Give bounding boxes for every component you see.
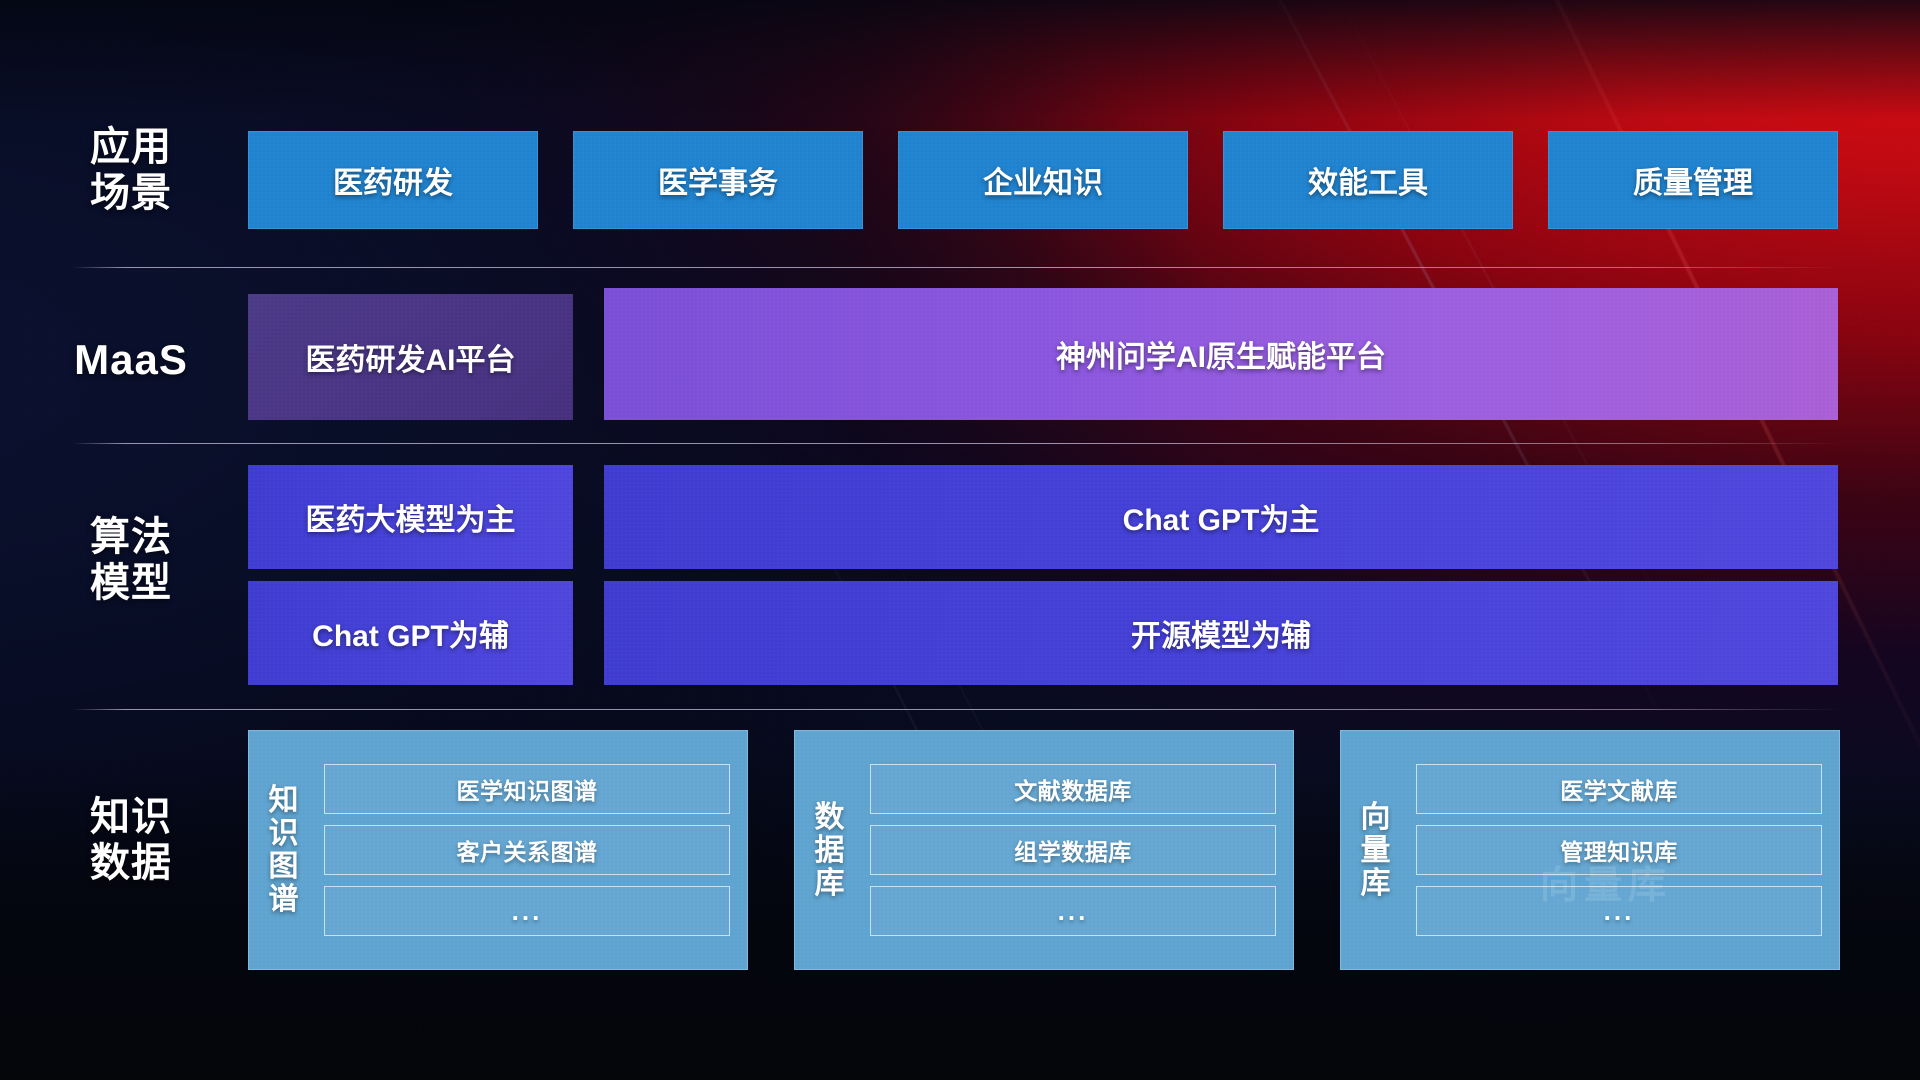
app-cell-label: 质量管理: [1633, 158, 1753, 202]
maas-right-label: 神州问学AI原生赋能平台: [1056, 332, 1386, 376]
knowledge-group-title-2: 数 据 库: [794, 801, 866, 900]
row-label-knowledge-data: 知识 数据: [48, 795, 214, 886]
app-cell-3[interactable]: 企业知识: [898, 131, 1188, 229]
title-char: 量: [1361, 834, 1392, 867]
row-label-line: 场景: [48, 171, 214, 217]
knowledge-group-title-3: 向 量 库: [1340, 801, 1412, 900]
knowledge-group-2[interactable]: 数 据 库 文献数据库 组学数据库 ...: [794, 730, 1294, 970]
knowledge-items-2: 文献数据库 组学数据库 ...: [866, 750, 1294, 950]
knowledge-group-title-1: 知 识 图 谱: [248, 784, 320, 916]
algo-cell-label: 医药大模型为主: [306, 495, 516, 539]
title-char: 识: [269, 817, 300, 850]
knowledge-item[interactable]: 文献数据库: [870, 764, 1276, 814]
diagram-content: 应用 场景 医药研发 医学事务 企业知识 效能工具 质量管理 MaaS 医药研发…: [0, 0, 1920, 1080]
divider-3: [72, 709, 1842, 710]
app-cell-label: 效能工具: [1308, 158, 1428, 202]
row-label-line: 知识: [48, 795, 214, 841]
algo-cell-right-2[interactable]: 开源模型为辅: [604, 581, 1838, 685]
algo-cell-right-1[interactable]: Chat GPT为主: [604, 465, 1838, 569]
algo-cell-left-1[interactable]: 医药大模型为主: [248, 465, 573, 569]
knowledge-item[interactable]: 组学数据库: [870, 825, 1276, 875]
knowledge-items-1: 医学知识图谱 客户关系图谱 ...: [320, 750, 748, 950]
row-label-algorithm-model: 算法 模型: [48, 515, 214, 606]
slide-canvas: 应用 场景 医药研发 医学事务 企业知识 效能工具 质量管理 MaaS 医药研发…: [0, 0, 1920, 1080]
row-label-line: 应用: [48, 125, 214, 171]
row-label-maas: MaaS: [48, 336, 214, 384]
app-cell-label: 医药研发: [333, 158, 453, 202]
knowledge-item[interactable]: 医学知识图谱: [324, 764, 730, 814]
row-label-line: 模型: [48, 561, 214, 607]
knowledge-items-3: 医学文献库 管理知识库 ...: [1412, 750, 1840, 950]
knowledge-item-more[interactable]: ...: [1416, 886, 1822, 936]
app-cell-4[interactable]: 效能工具: [1223, 131, 1513, 229]
row-label-line: 算法: [48, 515, 214, 561]
algo-cell-label: Chat GPT为主: [1123, 495, 1320, 539]
maas-left-label: 医药研发AI平台: [306, 335, 516, 379]
title-char: 据: [815, 834, 846, 867]
app-cell-5[interactable]: 质量管理: [1548, 131, 1838, 229]
maas-left-cell[interactable]: 医药研发AI平台: [248, 294, 573, 420]
row-label-line: 数据: [48, 841, 214, 887]
title-char: 知: [269, 784, 300, 817]
title-char: 向: [1361, 801, 1392, 834]
knowledge-item[interactable]: 客户关系图谱: [324, 825, 730, 875]
title-char: 图: [269, 850, 300, 883]
title-char: 数: [815, 801, 846, 834]
knowledge-item[interactable]: 管理知识库: [1416, 825, 1822, 875]
row-label-application-scenarios: 应用 场景: [48, 125, 214, 216]
knowledge-item-more[interactable]: ...: [324, 886, 730, 936]
algo-cell-label: 开源模型为辅: [1131, 611, 1311, 655]
knowledge-item-more[interactable]: ...: [870, 886, 1276, 936]
title-char: 库: [1361, 867, 1392, 900]
divider-2: [72, 443, 1842, 444]
row-label-line: MaaS: [48, 336, 214, 384]
title-char: 库: [815, 867, 846, 900]
knowledge-group-3[interactable]: 向量库 向 量 库 医学文献库 管理知识库 ...: [1340, 730, 1840, 970]
knowledge-group-1[interactable]: 知 识 图 谱 医学知识图谱 客户关系图谱 ...: [248, 730, 748, 970]
app-cell-2[interactable]: 医学事务: [573, 131, 863, 229]
knowledge-item[interactable]: 医学文献库: [1416, 764, 1822, 814]
app-cell-label: 医学事务: [658, 158, 778, 202]
divider-1: [72, 267, 1842, 268]
title-char: 谱: [269, 883, 300, 916]
algo-cell-label: Chat GPT为辅: [312, 611, 509, 655]
app-cell-1[interactable]: 医药研发: [248, 131, 538, 229]
app-cell-label: 企业知识: [983, 158, 1103, 202]
maas-right-cell[interactable]: 神州问学AI原生赋能平台: [604, 288, 1838, 420]
algo-cell-left-2[interactable]: Chat GPT为辅: [248, 581, 573, 685]
